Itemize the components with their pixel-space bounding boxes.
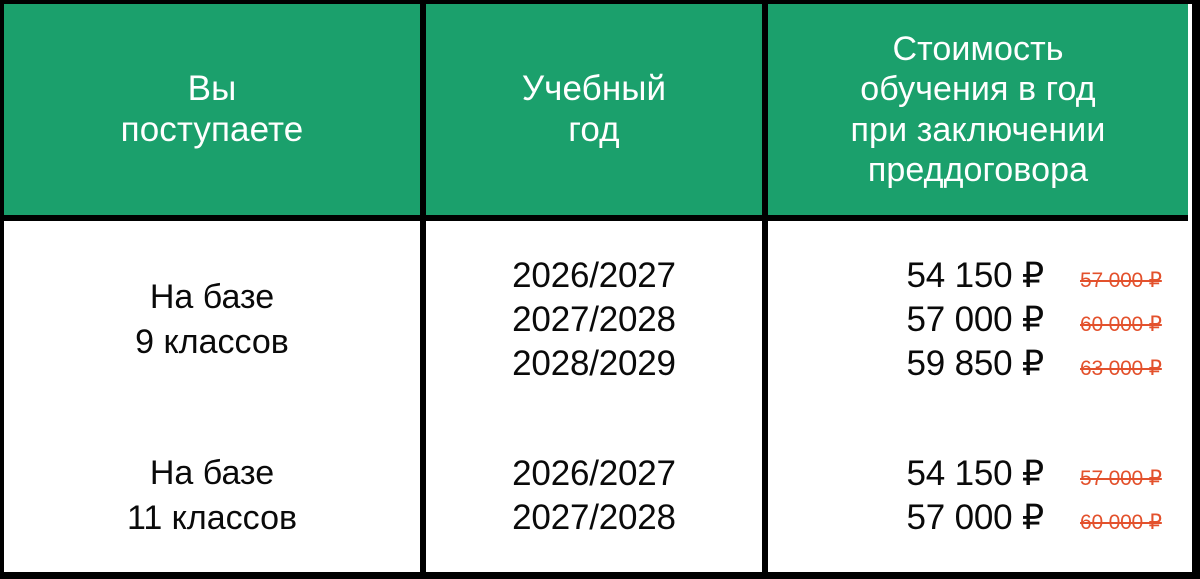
tuition-price-cell: 54 150 ₽ 57 000 ₽ 57 000 ₽ 60 000 ₽ 59 8… [762, 221, 1188, 419]
tuition-price-cell: 54 150 ₽ 57 000 ₽ 57 000 ₽ 60 000 ₽ [762, 419, 1188, 572]
price-line: 57 000 ₽ 60 000 ₽ [826, 298, 1162, 342]
table-row: На базе 9 классов [4, 221, 420, 419]
table-header-cell-admission-basis: Вы поступаете [4, 4, 420, 221]
current-price: 59 850 ₽ [826, 342, 1044, 386]
price-line: 57 000 ₽ 60 000 ₽ [826, 496, 1162, 540]
table-header-cell-academic-year: Учебный год [420, 4, 762, 221]
old-price-strikethrough: 63 000 ₽ [1080, 347, 1162, 391]
header-line: обучения в год [860, 69, 1095, 109]
academic-years-cell: 2026/2027 2027/2028 2028/2029 [420, 221, 762, 419]
table-row: На базе 11 классов [4, 419, 420, 572]
academic-year: 2026/2027 [512, 452, 676, 496]
academic-year: 2027/2028 [512, 298, 676, 342]
header-line: при заключении [851, 110, 1106, 150]
table-grid: Вы поступаете Учебный год Стоимость обуч… [4, 4, 1192, 572]
header-line: Стоимость [892, 29, 1063, 69]
admission-basis-line: На базе [150, 275, 274, 320]
table-header-cell-tuition-price: Стоимость обучения в год при заключении … [762, 4, 1188, 221]
old-price-strikethrough: 60 000 ₽ [1080, 501, 1162, 545]
academic-year: 2027/2028 [512, 496, 676, 540]
current-price: 57 000 ₽ [826, 298, 1044, 342]
header-line: поступаете [121, 110, 304, 151]
price-line: 59 850 ₽ 63 000 ₽ [826, 342, 1162, 386]
pricing-table: Вы поступаете Учебный год Стоимость обуч… [0, 0, 1200, 579]
price-line: 54 150 ₽ 57 000 ₽ [826, 254, 1162, 298]
old-price-strikethrough: 57 000 ₽ [1080, 259, 1162, 303]
academic-year: 2026/2027 [512, 254, 676, 298]
academic-years-cell: 2026/2027 2027/2028 [420, 419, 762, 572]
old-price-strikethrough: 60 000 ₽ [1080, 303, 1162, 347]
current-price: 54 150 ₽ [826, 254, 1044, 298]
header-line: год [568, 110, 619, 151]
header-line: Учебный [522, 69, 666, 110]
current-price: 57 000 ₽ [826, 496, 1044, 540]
price-line: 54 150 ₽ 57 000 ₽ [826, 452, 1162, 496]
academic-year: 2028/2029 [512, 342, 676, 386]
admission-basis-line: 9 классов [135, 320, 289, 365]
old-price-strikethrough: 57 000 ₽ [1080, 457, 1162, 501]
header-line: преддоговора [868, 150, 1088, 190]
admission-basis-line: На базе [150, 451, 274, 496]
current-price: 54 150 ₽ [826, 452, 1044, 496]
admission-basis-line: 11 классов [127, 496, 297, 541]
header-line: Вы [188, 69, 237, 110]
